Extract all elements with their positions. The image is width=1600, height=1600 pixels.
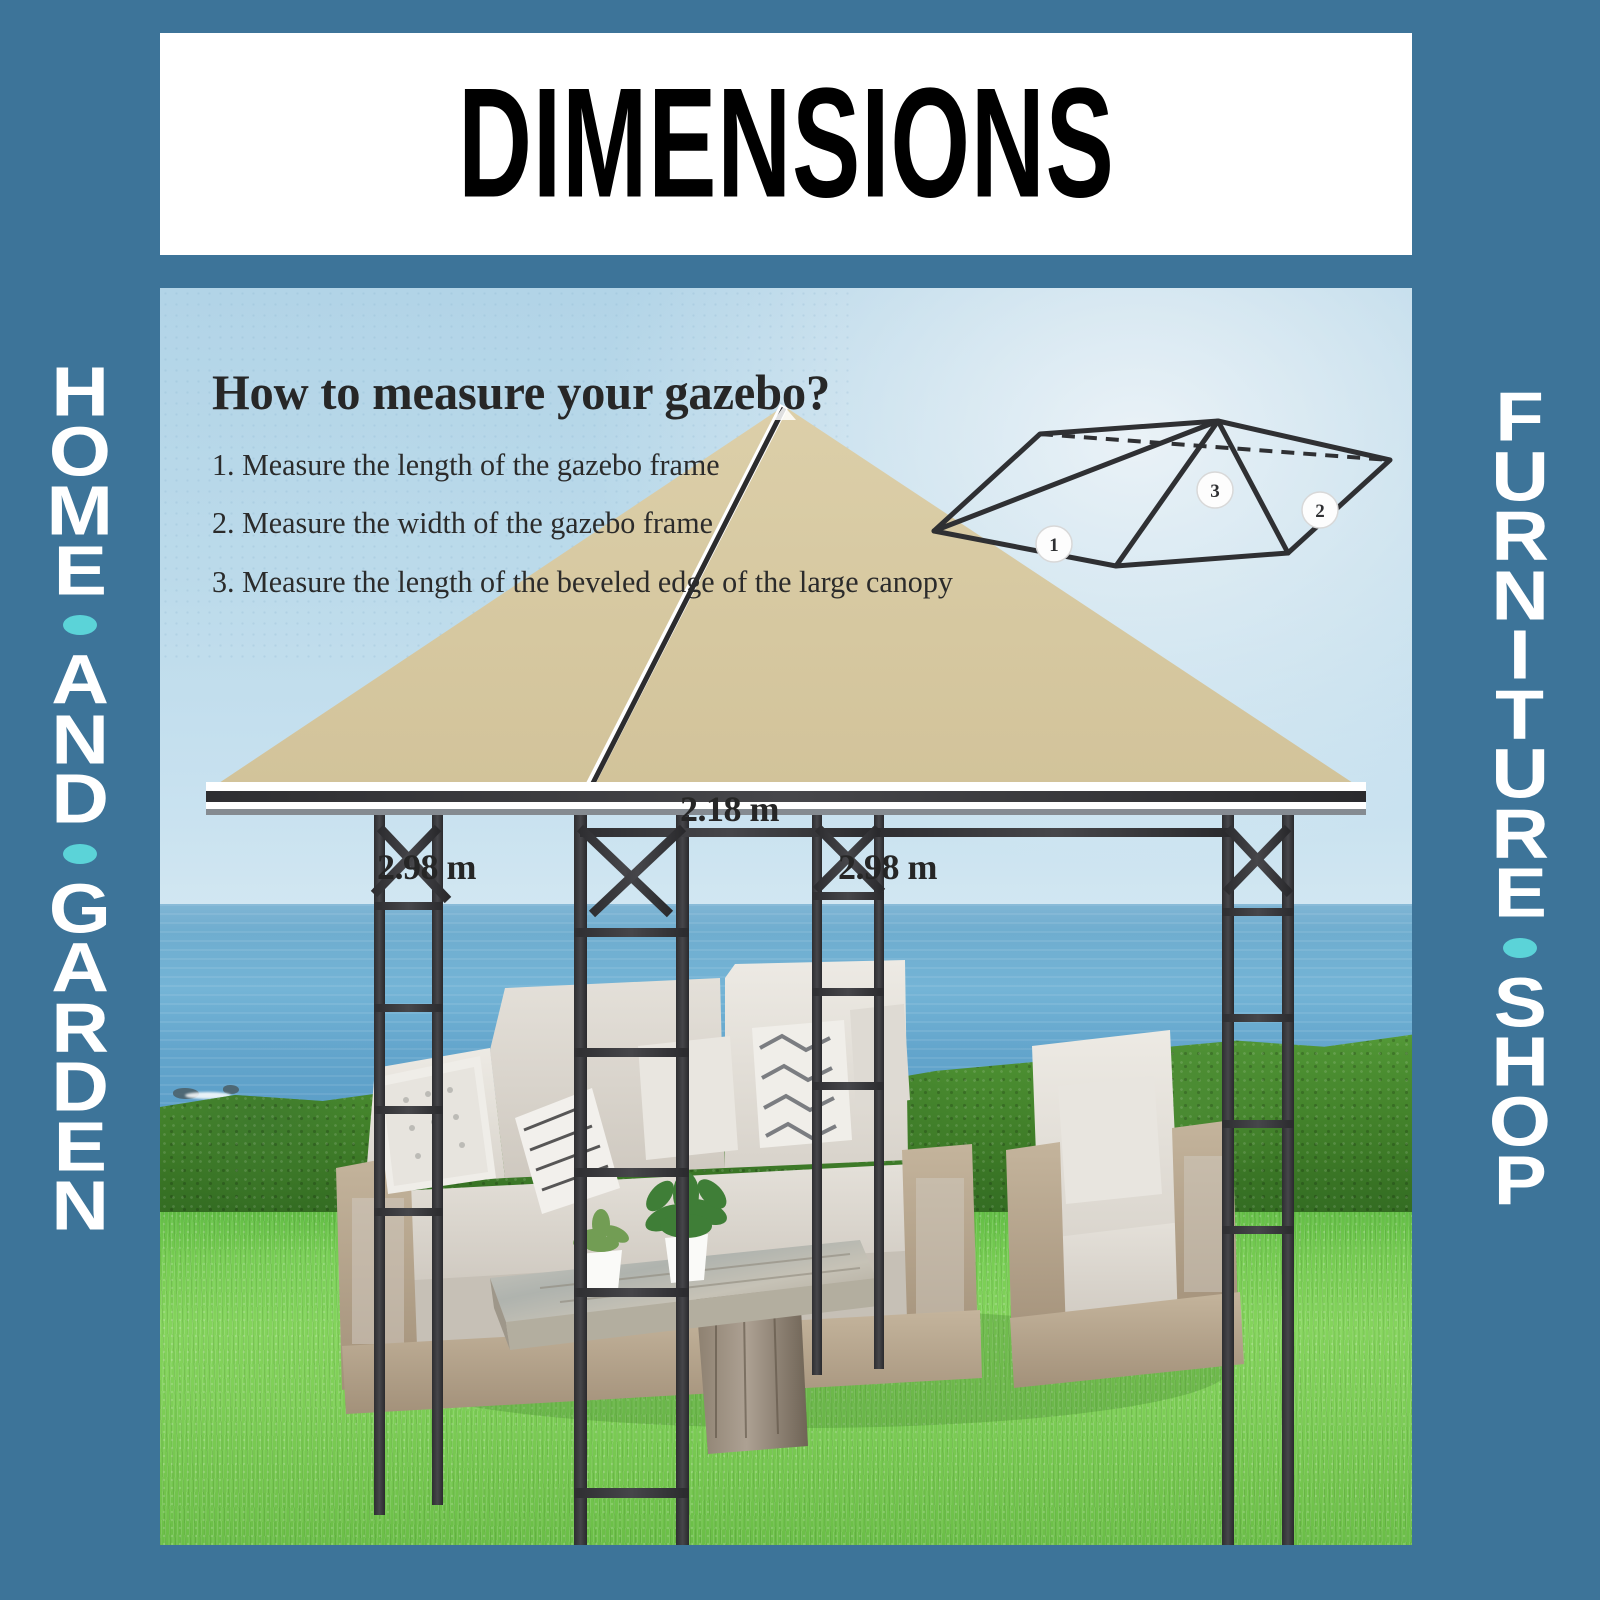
wireframe-badge-3-label: 3 xyxy=(1210,481,1220,502)
wireframe-badge-1-label: 1 xyxy=(1049,535,1059,556)
sidebar-left-char: D xyxy=(51,768,109,832)
sidebar-right-char: P xyxy=(1493,1150,1546,1214)
sidebar-left-brand: H O M E A N D G A R D E N xyxy=(0,0,160,1600)
sidebar-right-char: E xyxy=(1493,862,1546,926)
dimension-label-length-left: 2.98 m xyxy=(377,846,476,888)
outdoor-armchair xyxy=(1006,1030,1244,1388)
dimension-label-bevel: 2.18 m xyxy=(680,788,779,830)
sidebar-right-brand: F U R N I T U R E S H O P xyxy=(1440,0,1600,1600)
bullet-dot-icon xyxy=(63,844,97,864)
dimension-label-length-right: 2.98 m xyxy=(838,846,937,888)
wireframe-badge-3: 3 xyxy=(1197,472,1233,508)
howto-heading: How to measure your gazebo? xyxy=(212,366,978,419)
wireframe-badge-2-label: 2 xyxy=(1315,501,1325,522)
title-banner: DIMENSIONS xyxy=(160,33,1412,255)
sidebar-left-char: E xyxy=(53,539,106,603)
bullet-dot-icon xyxy=(63,615,97,635)
wireframe-badge-1: 1 xyxy=(1036,526,1072,562)
howto-step-1: 1. Measure the length of the gazebo fram… xyxy=(212,449,978,482)
howto-step-2: 2. Measure the width of the gazebo frame xyxy=(212,507,978,540)
page-title: DIMENSIONS xyxy=(458,66,1115,222)
howto-block: How to measure your gazebo? 1. Measure t… xyxy=(212,366,1002,624)
canopy-wireframe-diagram: 1 3 2 xyxy=(920,388,1400,578)
sidebar-left-char: N xyxy=(51,1175,109,1239)
howto-step-3: 3. Measure the length of the beveled edg… xyxy=(212,566,978,599)
product-photo-panel: How to measure your gazebo? 1. Measure t… xyxy=(160,288,1412,1545)
bullet-dot-icon xyxy=(1503,938,1537,958)
wireframe-badge-2: 2 xyxy=(1302,492,1338,528)
